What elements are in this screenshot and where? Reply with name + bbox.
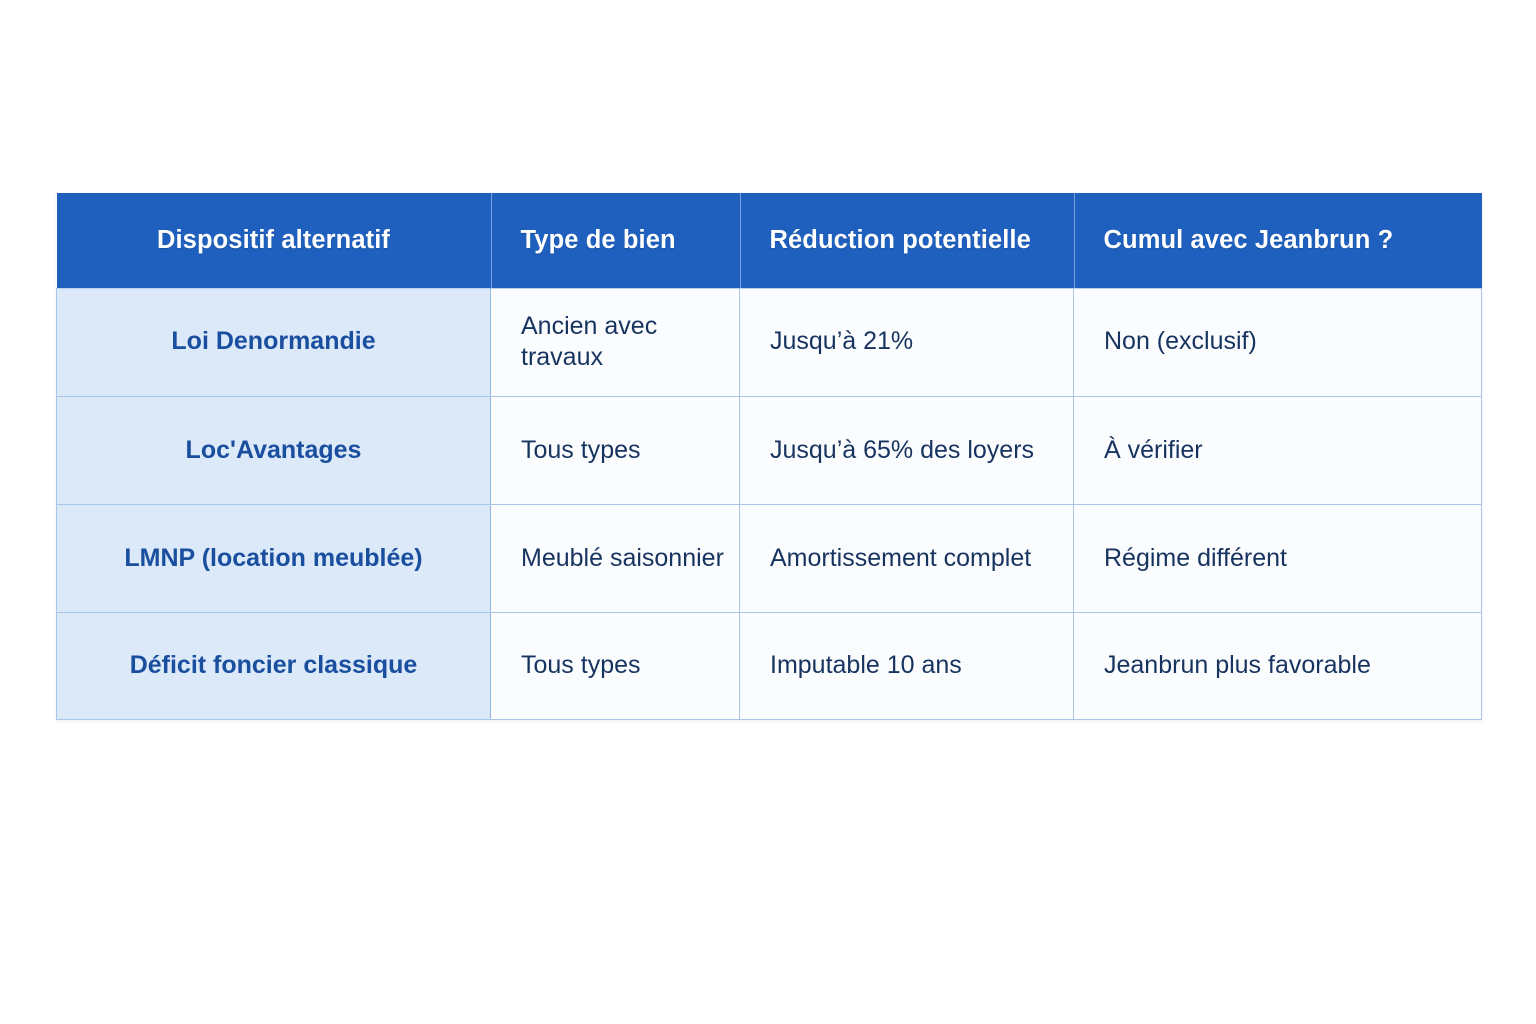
cell-dispositif: Loc'Avantages: [57, 396, 491, 504]
cell-cumul: Jeanbrun plus favorable: [1074, 612, 1482, 719]
cell-type-de-bien: Tous types: [491, 612, 740, 719]
cell-cumul: Régime différent: [1074, 504, 1482, 612]
table-row: Loc'Avantages Tous types Jusqu’à 65% des…: [57, 396, 1482, 504]
alternative-schemes-comparison-table: Dispositif alternatif Type de bien Réduc…: [56, 193, 1482, 720]
column-header-dispositif-alternatif: Dispositif alternatif: [57, 193, 491, 288]
table-header-row: Dispositif alternatif Type de bien Réduc…: [57, 193, 1482, 288]
cell-dispositif: LMNP (location meublée): [57, 504, 491, 612]
table-row: LMNP (location meublée) Meublé saisonnie…: [57, 504, 1482, 612]
table-row: Déficit foncier classique Tous types Imp…: [57, 612, 1482, 719]
cell-type-de-bien: Tous types: [491, 396, 740, 504]
comparison-table-container: Dispositif alternatif Type de bien Réduc…: [56, 193, 1481, 720]
cell-reduction: Jusqu’à 21%: [740, 288, 1074, 396]
column-header-cumul-avec-jeanbrun: Cumul avec Jeanbrun ?: [1074, 193, 1482, 288]
cell-type-de-bien: Meublé saisonnier: [491, 504, 740, 612]
cell-reduction: Imputable 10 ans: [740, 612, 1074, 719]
cell-type-de-bien: Ancien avec travaux: [491, 288, 740, 396]
table-header: Dispositif alternatif Type de bien Réduc…: [57, 193, 1482, 288]
cell-dispositif: Déficit foncier classique: [57, 612, 491, 719]
cell-reduction: Amortissement complet: [740, 504, 1074, 612]
cell-reduction: Jusqu’à 65% des loyers: [740, 396, 1074, 504]
table-row: Loi Denormandie Ancien avec travaux Jusq…: [57, 288, 1482, 396]
column-header-type-de-bien: Type de bien: [491, 193, 740, 288]
table-body: Loi Denormandie Ancien avec travaux Jusq…: [57, 288, 1482, 720]
cell-cumul: Non (exclusif): [1074, 288, 1482, 396]
column-header-reduction-potentielle: Réduction potentielle: [740, 193, 1074, 288]
cell-dispositif: Loi Denormandie: [57, 288, 491, 396]
cell-cumul: À vérifier: [1074, 396, 1482, 504]
